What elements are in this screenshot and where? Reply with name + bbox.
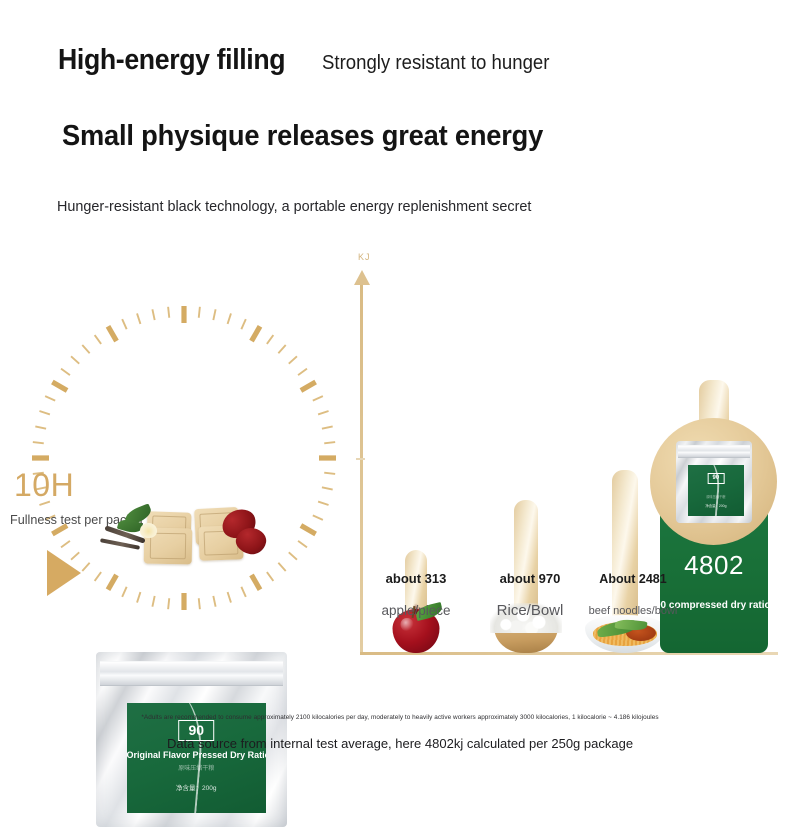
y-axis-tick [356,458,365,460]
secondary-heading: Small physique releases great energy [62,120,543,153]
tagline: Hunger-resistant black technology, a por… [57,198,531,215]
bag-front-label: 90 原味压缩干粮 净含量：200g [688,465,743,517]
vanilla-flower-icon [140,523,157,538]
value-label: about 970 [500,571,561,586]
footnote-data-source: Data source from internal test average, … [0,736,800,751]
page-subtitle: Strongly resistant to hunger [322,52,549,75]
product-net-weight: 净含量：200g [688,503,743,508]
value-label: About 2481 [599,572,666,586]
product-name-cn: 原味压缩干粮 [127,763,266,772]
category-label: apple/piece [354,603,478,618]
fullness-hours-value: 10H [14,467,74,504]
chart-label-noodles: About 2481 beef noodles/bowl [566,570,700,617]
bag-zipper [100,661,283,686]
product-name: Original Flavor Pressed Dry Rations [127,750,266,760]
value-label: about 313 [386,571,447,586]
y-axis-label: KJ [358,252,371,262]
category-label: beef noodles/bowl [566,605,700,617]
product-net-weight: 净含量：200g [127,782,266,792]
bag-zipper [678,445,751,458]
y-axis-arrow-icon [354,270,370,285]
chart-label-apple: about 313 apple/piece [354,570,478,618]
footnote-disclaimer: *Adults are recommended to consume appro… [0,714,800,721]
fullness-panel: 10H Fullness test per packet 90 Original… [0,280,350,680]
page-title: High-energy filling [58,44,285,77]
play-triangle-icon [47,550,81,596]
headline-row: High-energy filling Strongly resistant t… [58,44,567,77]
infographic-page: High-energy filling Strongly resistant t… [0,0,800,800]
brand-logo: 90 [708,473,725,484]
product-bag-small: 90 原味压缩干粮 净含量：200g [676,441,752,523]
energy-comparison-chart: KJ [348,258,788,663]
product-name-cn: 原味压缩干粮 [688,494,743,499]
